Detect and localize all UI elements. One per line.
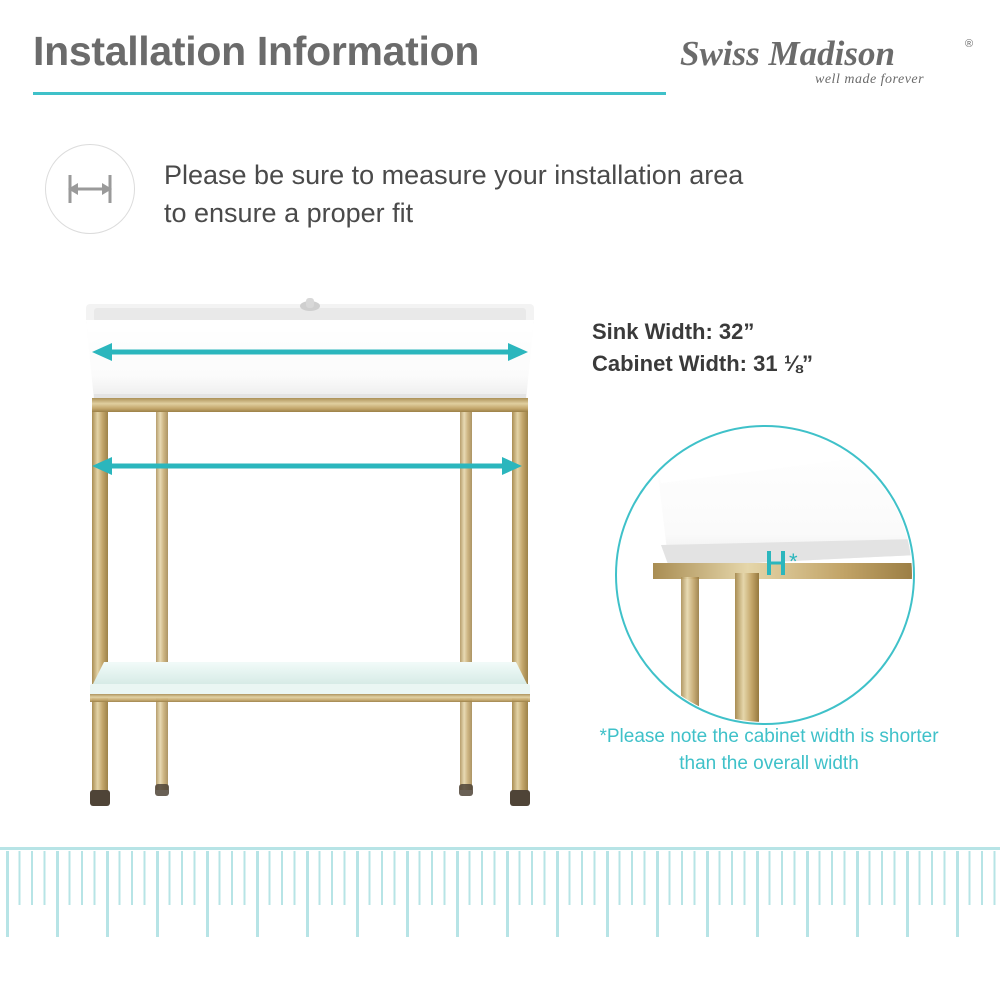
sink-width-label: Sink Width: 32” — [592, 316, 813, 348]
header-divider — [33, 92, 666, 95]
glass-shelf — [90, 662, 530, 702]
brand-registered-mark: ® — [965, 38, 973, 50]
cabinet-width-note: *Please note the cabinet width is shorte… — [589, 723, 949, 777]
detail-zoom-circle: * — [615, 425, 915, 725]
brand-logo: Swiss Madison ® well made forever — [680, 34, 975, 94]
vanity-frame — [90, 398, 530, 806]
cabinet-width-label: Cabinet Width: 31 ⅛” — [592, 348, 813, 380]
dimensions-block: Sink Width: 32” Cabinet Width: 31 ⅛” — [592, 316, 813, 380]
measure-instruction-text: Please be sure to measure your installat… — [164, 156, 764, 232]
detail-contents: * — [653, 437, 913, 723]
page-root: Installation Information Swiss Madison ®… — [0, 0, 1000, 1000]
brand-tagline: well made forever — [815, 72, 924, 88]
brand-name: Swiss Madison — [680, 34, 895, 74]
ruler-graphic — [0, 845, 1000, 975]
product-illustration — [60, 290, 560, 820]
sink-basin — [86, 298, 534, 400]
page-title: Installation Information — [33, 28, 479, 75]
measure-icon-badge — [45, 144, 135, 234]
offset-asterisk: * — [789, 549, 798, 574]
double-arrow-horizontal-icon — [46, 145, 134, 233]
